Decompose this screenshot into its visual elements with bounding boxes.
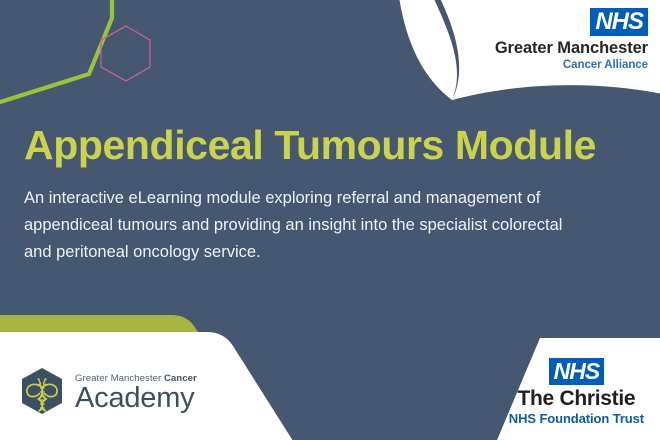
gm-organisation-name: Greater Manchester	[495, 39, 648, 58]
page-description: An interactive eLearning module explorin…	[24, 185, 569, 265]
title-block: Appendiceal Tumours Module An interactiv…	[24, 124, 624, 266]
green-polyline-icon	[0, 0, 112, 104]
slide-canvas: Appendiceal Tumours Module An interactiv…	[0, 0, 660, 440]
nhs-logo-badge: NHS	[549, 358, 605, 385]
academy-wordmark-text: Greater Manchester Cancer Academy	[75, 371, 197, 413]
gm-division-name: Cancer Alliance	[495, 59, 648, 71]
pink-hexagon-outline-icon	[101, 26, 150, 81]
christie-logo: NHS The Christie NHS Foundation Trust	[509, 358, 644, 426]
christie-organisation-name: The Christie	[509, 387, 644, 411]
page-title: Appendiceal Tumours Module	[24, 124, 624, 167]
nhs-logo-badge: NHS	[590, 8, 648, 36]
top-right-white-panel-curve	[398, 0, 457, 100]
gm-cancer-alliance-logo: NHS Greater Manchester Cancer Alliance	[495, 8, 648, 71]
bee-dna-hexagon-icon	[18, 366, 66, 418]
christie-division-name: NHS Foundation Trust	[509, 411, 644, 426]
gm-cancer-academy-logo: Greater Manchester Cancer Academy	[18, 366, 197, 418]
academy-wordmark: Academy	[75, 383, 197, 413]
